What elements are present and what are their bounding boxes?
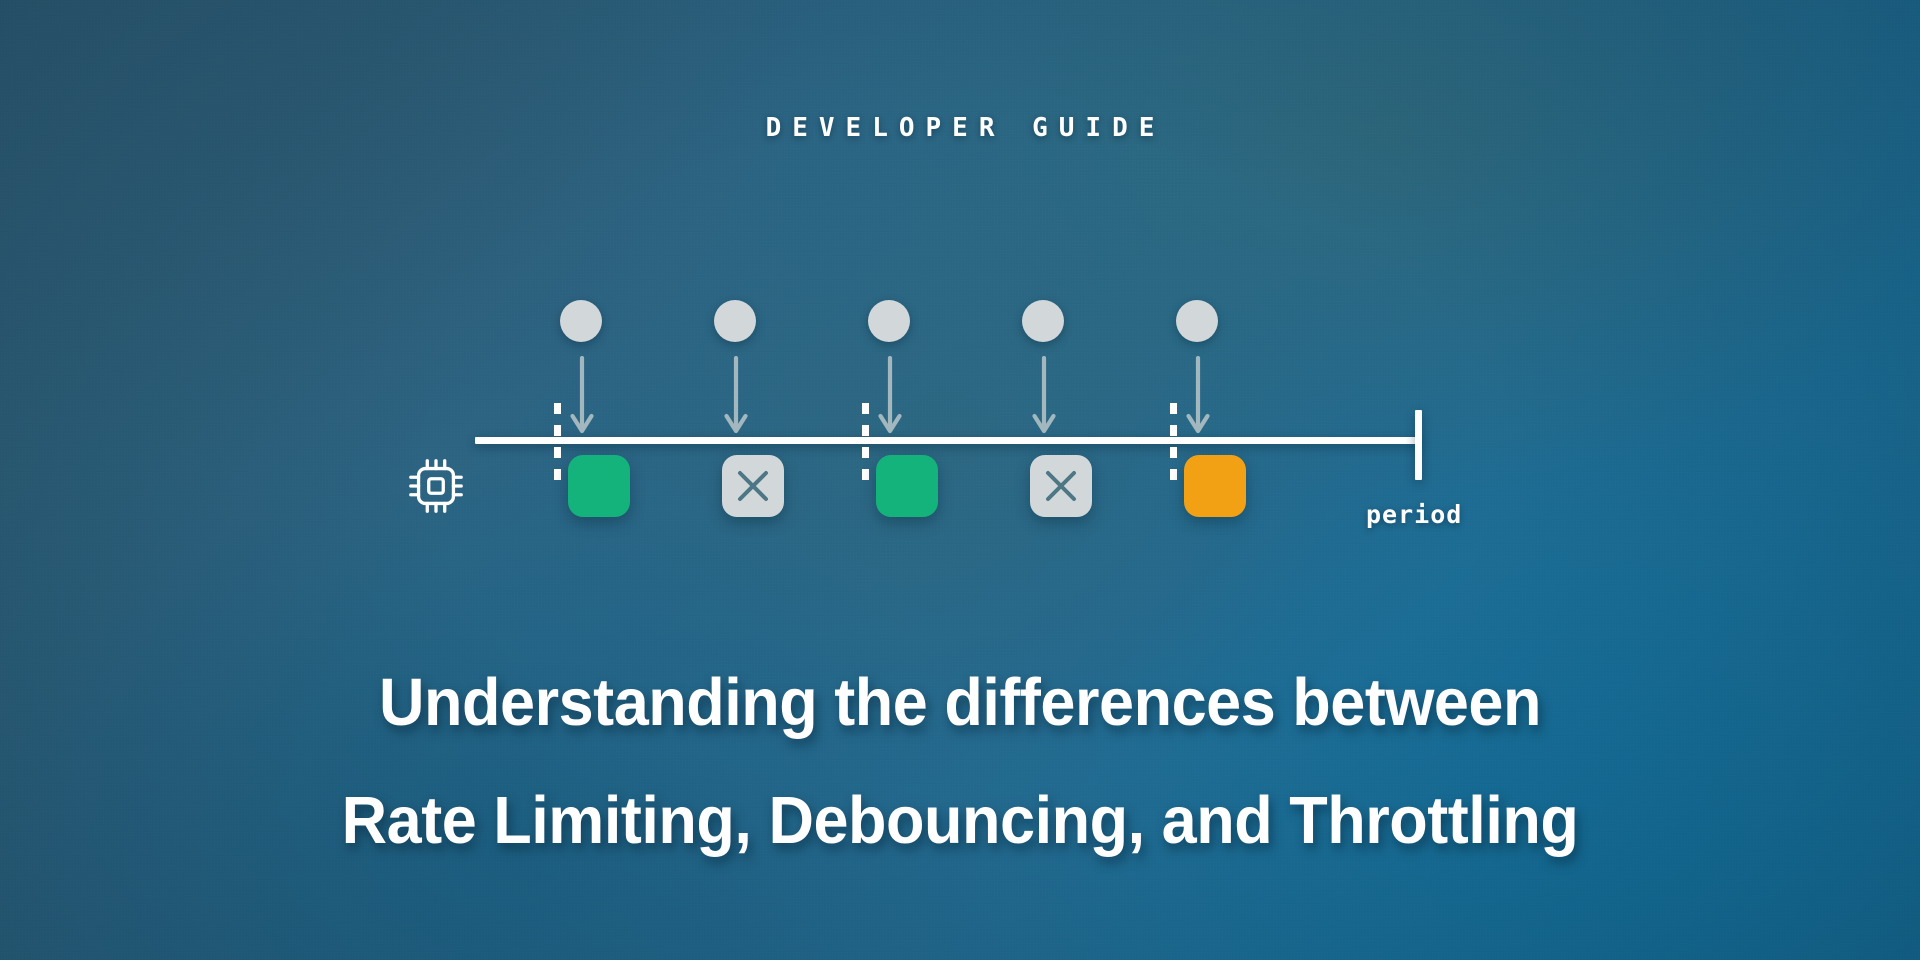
incoming-event (714, 300, 758, 342)
period-separator (862, 403, 869, 483)
circle-dot-icon (1176, 300, 1218, 342)
timeline-end-tick (1415, 410, 1422, 480)
circle-dot-icon (868, 300, 910, 342)
arrow-down-icon (724, 356, 748, 440)
arrow-down-icon (570, 356, 594, 440)
period-label: period (1366, 500, 1462, 529)
circle-dot-icon (1022, 300, 1064, 342)
circle-dot-icon (560, 300, 602, 342)
arrow-down-icon (1032, 356, 1056, 440)
allowed-request-box (568, 455, 630, 517)
blocked-request-box (1030, 455, 1092, 517)
arrow-down-icon (1186, 356, 1210, 440)
page-title-line-2: Rate Limiting, Debouncing, and Throttlin… (58, 762, 1863, 880)
rate-limited-request-box (1184, 455, 1246, 517)
incoming-event (868, 300, 912, 342)
allowed-request-box (876, 455, 938, 517)
blocked-request-box (722, 455, 784, 517)
page-title: Understanding the differences between Ra… (58, 644, 1863, 880)
page-title-line-1: Understanding the differences between (58, 644, 1863, 762)
period-separator (554, 403, 561, 483)
incoming-event (1022, 300, 1066, 342)
timeline-axis (475, 437, 1420, 444)
incoming-event (560, 300, 604, 342)
incoming-event (1176, 300, 1220, 342)
arrow-down-icon (878, 356, 902, 440)
circle-dot-icon (714, 300, 756, 342)
cpu-chip-icon (405, 455, 467, 517)
period-separator (1170, 403, 1177, 483)
